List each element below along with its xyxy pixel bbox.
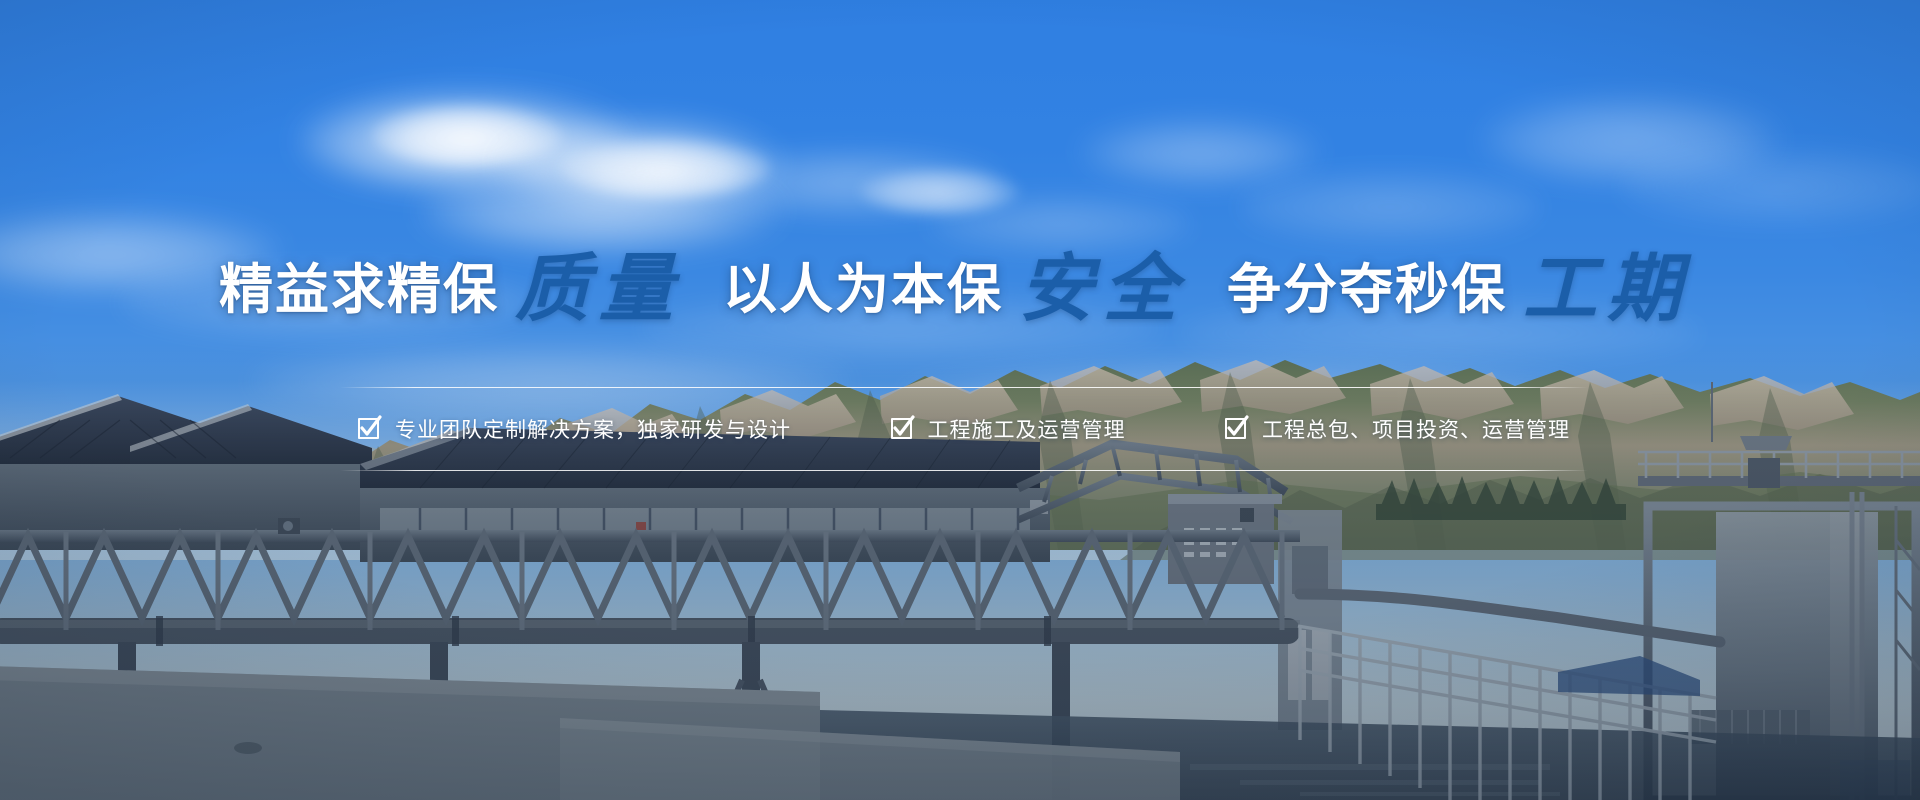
hero-banner: 精益求精保质量以人为本保安全争分夺秒保工期 专业团队定制解决方案，独家研发与设计 <box>0 0 1920 800</box>
industrial-plant-foreground <box>0 380 1920 800</box>
control-cabinet <box>1168 494 1342 730</box>
plant-building-left <box>0 394 390 550</box>
tree-line <box>1376 476 1626 520</box>
small-blue-roof <box>1558 656 1700 696</box>
truss-pipe-bridge <box>0 518 1300 646</box>
